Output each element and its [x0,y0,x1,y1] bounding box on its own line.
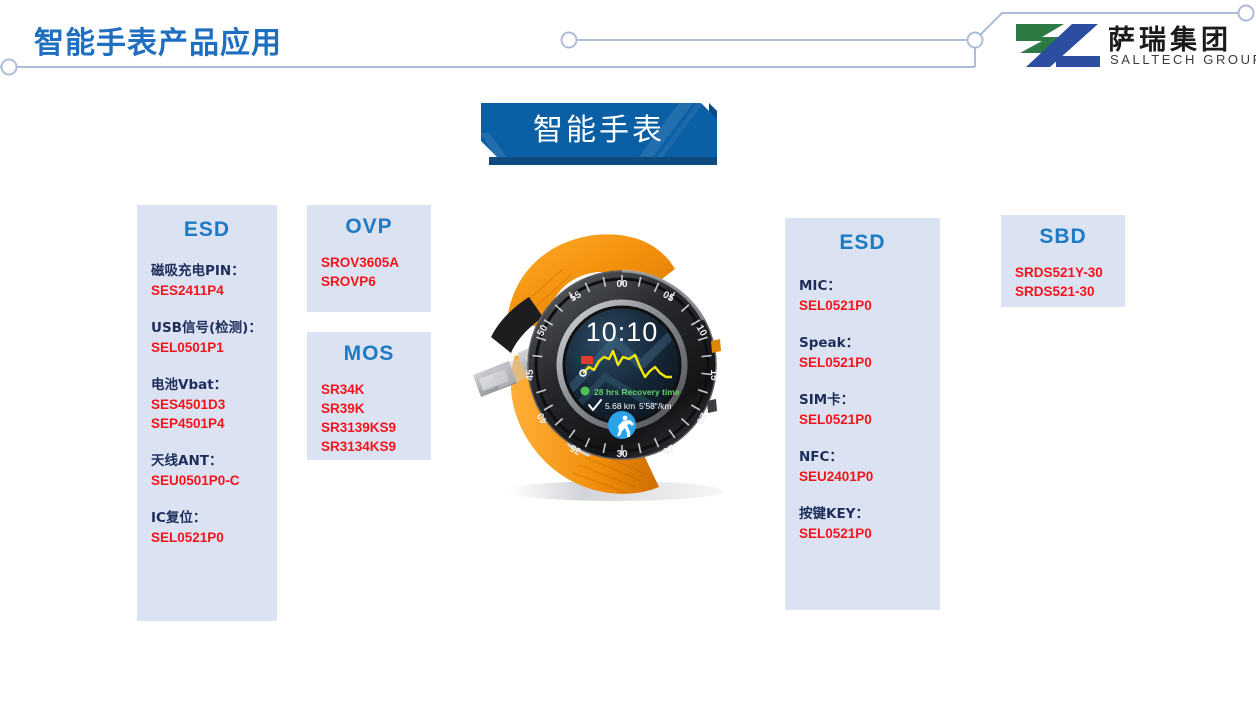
part-number: SEL0521P0 [799,296,940,315]
product-box-ovp: OVP SROV3605A SROVP6 [307,205,431,312]
box-title: ESD [785,218,940,255]
part-group: 天线ANT： SEU0501P0-C [151,452,277,490]
part-label: MIC： [799,277,940,296]
product-box-mos: MOS SR34K SR39K SR3139KS9 SR3134KS9 [307,332,431,460]
part-label: USB信号(检测)： [151,319,277,338]
part-label: NFC： [799,448,940,467]
watch-distance: 5.68 km [605,401,635,411]
part-number: SEL0521P0 [151,528,277,547]
svg-text:00: 00 [616,279,628,290]
part-group: IC复位： SEL0521P0 [151,509,277,547]
product-box-sbd: SBD SRDS521Y-30 SRDS521-30 [1001,215,1125,307]
part-number: SRDS521Y-30 [1015,263,1125,282]
box-title: SBD [1001,215,1125,249]
part-label: SIM卡： [799,391,940,410]
part-number: SEU2401P0 [799,467,940,486]
box-title: OVP [307,205,431,239]
part-group: NFC： SEU2401P0 [799,448,940,486]
part-group: 电池Vbat： SES4501D3 SEP4501P4 [151,376,277,433]
part-number: SR39K [321,399,431,418]
part-number: SEL0521P0 [799,410,940,429]
product-box-esd-left: ESD 磁吸充电PIN： SES2411P4 USB信号(检测)： SEL050… [137,205,277,621]
watch-time: 10:10 [586,317,659,347]
part-group: SROV3605A SROVP6 [321,253,431,291]
company-logo: 萨瑞集团 SALLTECH GROUP [1012,18,1244,73]
box-content: SROV3605A SROVP6 [307,239,431,291]
product-box-esd-right: ESD MIC： SEL0521P0 Speak： SEL0521P0 SIM卡… [785,218,940,610]
part-group: 按键KEY： SEL0521P0 [799,505,940,543]
part-number: SR34K [321,380,431,399]
part-group: SIM卡： SEL0521P0 [799,391,940,429]
part-label: IC复位： [151,509,277,528]
part-number: SROV3605A [321,253,431,272]
part-group: SR34K SR39K SR3139KS9 SR3134KS9 [321,380,431,456]
smartwatch-image: 00 05 10 15 20 25 30 35 40 45 50 55 10:1… [455,225,745,525]
svg-text:45: 45 [525,369,536,381]
box-title: ESD [137,205,277,242]
part-label: 天线ANT： [151,452,277,471]
part-number: SR3139KS9 [321,418,431,437]
part-group: Speak： SEL0521P0 [799,334,940,372]
box-content: 磁吸充电PIN： SES2411P4 USB信号(检测)： SEL0501P1 … [137,242,277,547]
part-number: SES2411P4 [151,281,277,300]
slide-root: 智能手表产品应用 萨瑞集团 SALLTECH GROUP 智能手表 [0,0,1256,706]
part-group: MIC： SEL0521P0 [799,277,940,315]
part-group: USB信号(检测)： SEL0501P1 [151,319,277,357]
part-number: SROVP6 [321,272,431,291]
logo-name-en: SALLTECH GROUP [1110,52,1256,67]
part-number: SEL0521P0 [799,524,940,543]
svg-text:15: 15 [708,369,719,381]
box-content: SR34K SR39K SR3139KS9 SR3134KS9 [307,366,431,456]
part-number: SEL0521P0 [799,353,940,372]
part-number: SR3134KS9 [321,437,431,456]
box-title: MOS [307,332,431,366]
part-number: SEP4501P4 [151,414,277,433]
watch-recovery: 28 hrs Recovery time [594,387,680,397]
box-content: MIC： SEL0521P0 Speak： SEL0521P0 SIM卡： SE… [785,255,940,543]
watch-pace: 5'58"/km [639,401,672,411]
part-label: 按键KEY： [799,505,940,524]
svg-text:30: 30 [616,449,628,460]
box-content: SRDS521Y-30 SRDS521-30 [1001,249,1125,301]
logo-mark-icon [1012,20,1104,70]
section-banner-label: 智能手表 [481,103,717,159]
part-number: SEL0501P1 [151,338,277,357]
part-label: 磁吸充电PIN： [151,262,277,281]
part-number: SEU0501P0-C [151,471,277,490]
part-label: Speak： [799,334,940,353]
part-label: 电池Vbat： [151,376,277,395]
part-group: SRDS521Y-30 SRDS521-30 [1015,263,1125,301]
part-group: 磁吸充电PIN： SES2411P4 [151,262,277,300]
part-number: SES4501D3 [151,395,277,414]
part-number: SRDS521-30 [1015,282,1125,301]
